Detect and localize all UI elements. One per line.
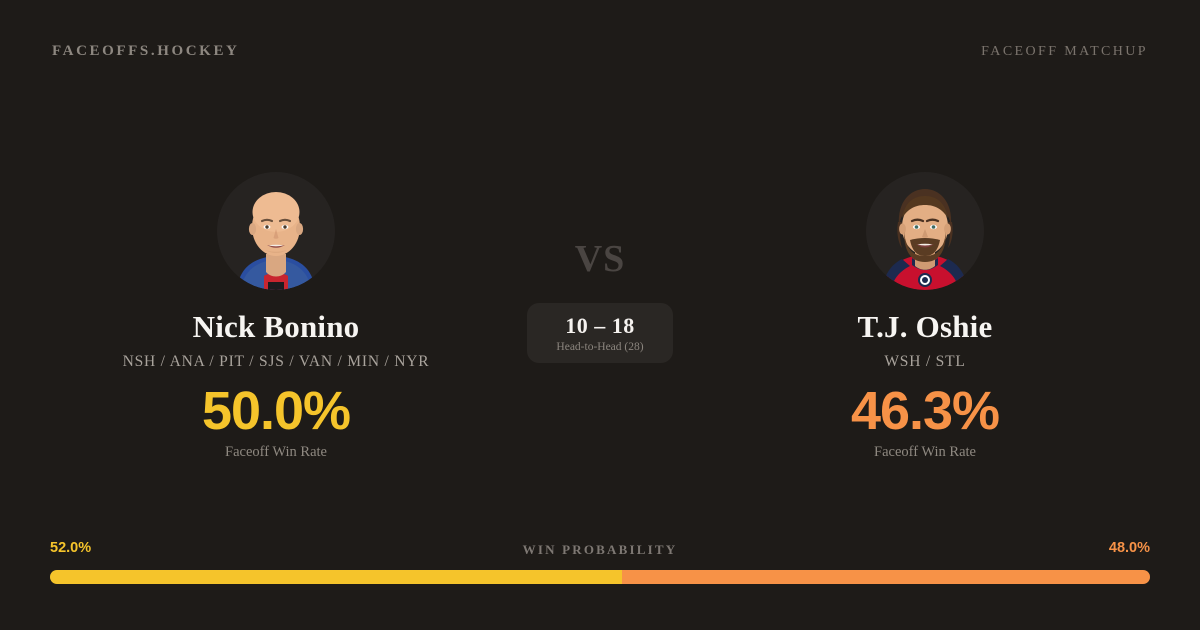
avatar-right (866, 172, 984, 290)
faceoff-pct-right: 46.3% (715, 383, 1135, 440)
head-to-head-score: 10 – 18 (565, 313, 635, 338)
player-headshot-bonino-icon (217, 172, 335, 290)
win-probability-bar-left-segment (50, 570, 622, 584)
versus-block: VS 10 – 18 Head-to-Head (28) (500, 240, 700, 363)
player-headshot-oshie-icon (866, 172, 984, 290)
win-probability-labels: 52.0% WIN PROBABILITY 48.0% (50, 540, 1150, 564)
player-teams-right: WSH / STL (715, 353, 1135, 371)
win-probability-title: WIN PROBABILITY (50, 542, 1150, 558)
player-name-right: T.J. Oshie (715, 310, 1135, 344)
faceoff-pct-label-left: Faceoff Win Rate (66, 444, 486, 461)
win-probability-bar (50, 570, 1150, 584)
header-tagline: FACEOFF MATCHUP (981, 44, 1148, 60)
faceoff-pct-left: 50.0% (66, 383, 486, 440)
matchup-graphic: FACEOFFS.HOCKEY FACEOFF MATCHUP (0, 0, 1200, 630)
head-to-head-card: 10 – 18 Head-to-Head (28) (527, 303, 673, 363)
player-card-left: Nick Bonino NSH / ANA / PIT / SJS / VAN … (66, 160, 486, 461)
player-card-right: T.J. Oshie WSH / STL 46.3% Faceoff Win R… (715, 160, 1135, 461)
header-bar: FACEOFFS.HOCKEY FACEOFF MATCHUP (0, 0, 1200, 100)
player-name-left: Nick Bonino (66, 310, 486, 344)
faceoff-pct-label-right: Faceoff Win Rate (715, 444, 1135, 461)
head-to-head-label: Head-to-Head (28) (556, 341, 643, 353)
win-probability-bar-right-segment (622, 570, 1150, 584)
win-probability-section: 52.0% WIN PROBABILITY 48.0% (50, 540, 1150, 584)
win-probability-right-value: 48.0% (1109, 540, 1150, 556)
avatar-left (217, 172, 335, 290)
brand-logo: FACEOFFS.HOCKEY (52, 43, 239, 60)
vs-label: VS (500, 240, 700, 278)
player-teams-left: NSH / ANA / PIT / SJS / VAN / MIN / NYR (66, 353, 486, 371)
